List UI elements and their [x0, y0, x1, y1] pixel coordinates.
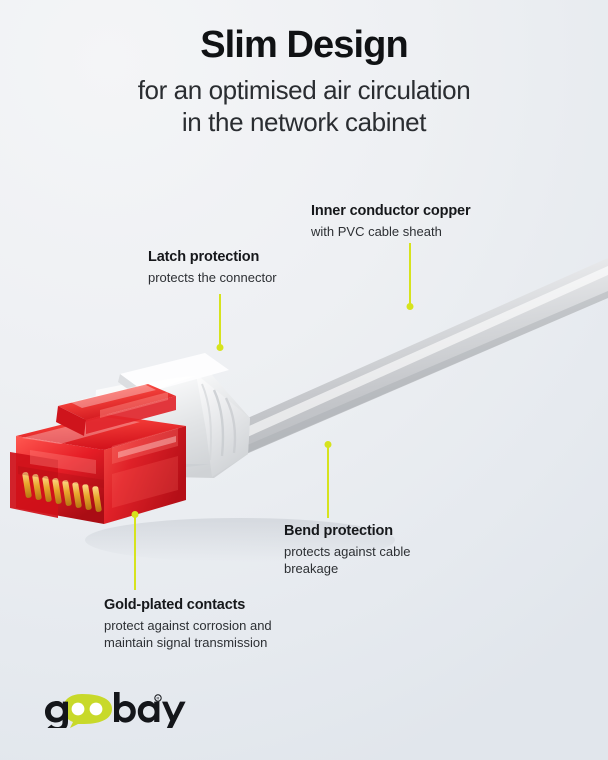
callout-title: Gold-plated contacts — [104, 596, 272, 615]
callout-subtitle-line1: protect against corrosion and — [104, 617, 272, 634]
callout-title: Inner conductor copper — [311, 202, 470, 221]
goobay-logo: R — [44, 692, 194, 728]
infographic-page: Slim Design for an optimised air circula… — [0, 0, 608, 760]
logo-letter-a — [138, 701, 160, 723]
logo-speech-bubble — [63, 694, 112, 728]
callout-subtitle-line1: with PVC cable sheath — [311, 223, 470, 240]
page-subtitle-line1: for an optimised air circulation — [0, 74, 608, 107]
callout-subtitle-line2: maintain signal transmission — [104, 634, 272, 651]
goobay-logo-y — [160, 692, 194, 728]
leader-line-latch-protection — [219, 294, 221, 348]
leader-line-bend-protection — [327, 444, 329, 518]
logo-o-second — [90, 703, 103, 716]
page-subtitle: for an optimised air circulation in the … — [0, 74, 608, 139]
logo-o-first — [72, 703, 85, 716]
gold-plated-contacts — [22, 472, 102, 513]
logo-letter-b — [114, 692, 136, 723]
callout-gold-plated-contacts: Gold-plated contacts protect against cor… — [104, 596, 272, 651]
network-cable — [232, 258, 608, 455]
goobay-logo-mark: R — [44, 692, 162, 728]
callout-subtitle-line1: protects the connector — [148, 269, 277, 286]
callout-inner-conductor: Inner conductor copper with PVC cable sh… — [311, 202, 470, 240]
bend-protection-boot — [92, 353, 250, 478]
page-title: Slim Design — [0, 24, 608, 67]
leader-line-gold-contacts — [134, 514, 136, 590]
callout-bend-protection: Bend protection protects against cable b… — [284, 522, 410, 577]
logo-letter-g — [45, 701, 68, 728]
latch-clip — [56, 384, 176, 436]
callout-title: Bend protection — [284, 522, 410, 541]
headline-block: Slim Design for an optimised air circula… — [0, 24, 608, 139]
page-subtitle-line2: in the network cabinet — [0, 106, 608, 139]
rj45-connector — [10, 414, 186, 524]
logo-letter-y — [162, 702, 186, 728]
leader-line-inner-conductor — [409, 243, 411, 307]
callout-subtitle-line1: protects against cable — [284, 543, 410, 560]
callout-latch-protection: Latch protection protects the connector — [148, 248, 277, 286]
callout-subtitle-line2: breakage — [284, 560, 410, 577]
callout-title: Latch protection — [148, 248, 277, 267]
